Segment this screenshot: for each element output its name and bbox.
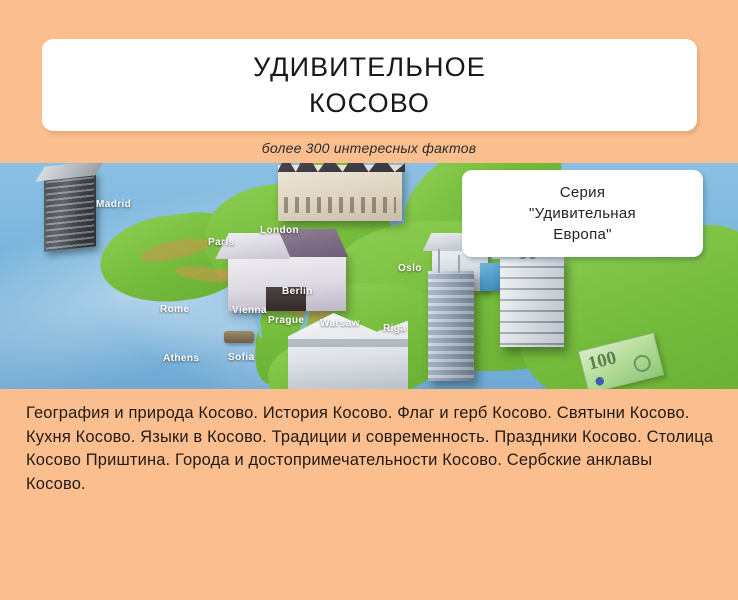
nordic-house-glass-annex <box>480 263 502 291</box>
banknote-ring <box>632 353 653 374</box>
concert-hall-band <box>288 339 408 347</box>
banknote-value: 100 <box>586 347 619 375</box>
city-label-vienna: Vienna <box>232 305 267 316</box>
skyscraper-mast-left <box>438 249 440 273</box>
city-label-sofia: Sofia <box>228 352 254 363</box>
series-badge-line-1: Серия <box>560 182 606 203</box>
office-tower-dark-icon <box>44 170 96 251</box>
skyscraper-mast-right <box>458 255 460 273</box>
city-label-oslo: Oslo <box>398 263 422 274</box>
series-badge-line-3: Европа" <box>553 224 612 245</box>
grid-tower-icon <box>500 255 564 347</box>
city-label-rome: Rome <box>160 304 189 315</box>
series-badge: Серия "Удивительная Европа" <box>462 170 703 257</box>
glass-skyscraper-icon <box>428 271 474 381</box>
series-badge-line-2: "Удивительная <box>529 203 636 224</box>
city-label-berlin: Berlin <box>282 286 313 297</box>
book-cover-poster: УДИВИТЕЛЬНОЕ КОСОВО более 300 интересных… <box>0 0 738 600</box>
description-text: География и природа Косово. История Косо… <box>26 402 716 496</box>
subtitle: более 300 интересных фактов <box>0 140 738 156</box>
banknote-eu-stars <box>591 375 609 388</box>
palace-building-icon <box>278 165 402 221</box>
city-label-warsaw: Warsaw <box>320 318 360 329</box>
page-title-line-1: УДИВИТЕЛЬНОЕ <box>253 49 486 85</box>
city-label-athens: Athens <box>163 353 199 364</box>
palace-roof <box>275 163 405 172</box>
city-label-paris: Paris <box>208 237 234 248</box>
villa-houses-icon <box>228 251 346 311</box>
city-label-madrid: Madrid <box>96 199 131 210</box>
city-label-london: London <box>260 225 299 236</box>
palace-windows <box>284 197 396 213</box>
city-label-riga: Riga <box>383 323 406 334</box>
page-title-line-2: КОСОВО <box>309 85 430 121</box>
stone-bridge-icon <box>224 331 254 343</box>
title-card: УДИВИТЕЛЬНОЕ КОСОВО <box>42 39 697 131</box>
city-label-prague: Prague <box>268 315 304 326</box>
